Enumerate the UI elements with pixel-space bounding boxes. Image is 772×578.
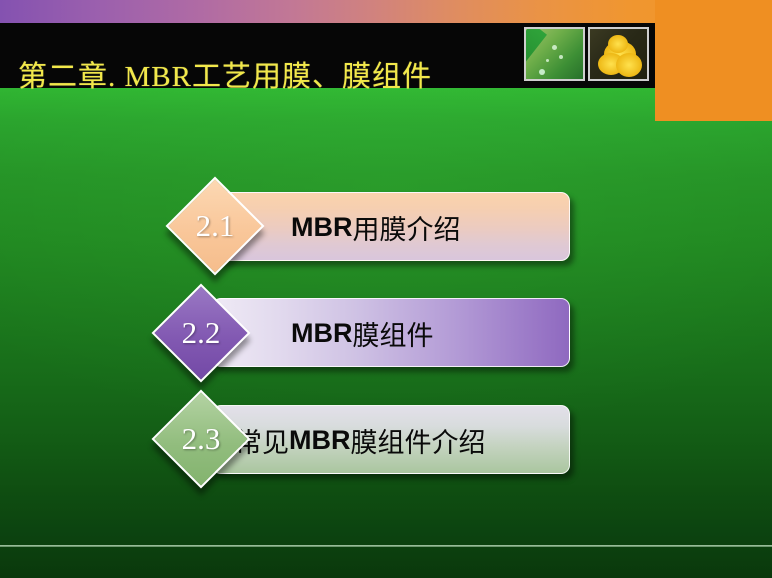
agenda-label-2-rest: 膜组件 [353,314,434,353]
slide: 第二章. MBR工艺用膜、膜组件 MBR用膜介绍 2.1 MBR膜组件 [0,0,772,578]
agenda-label-3-bold: MBR [289,425,351,456]
flower-photo-thumbnail [588,27,649,81]
agenda-label-1-bold: MBR [291,212,353,243]
hero-photo-frame [655,0,772,121]
water-dot-icon [539,69,545,75]
leaf-photo-thumbnail [524,27,585,81]
diamond-shape-3 [152,390,251,489]
leaf-image [526,29,583,79]
agenda-label-2: MBR膜组件 [291,299,434,368]
flower-petal [616,53,642,77]
agenda-diamond-2[interactable]: 2.2 [155,287,247,379]
flower-petal [608,35,628,53]
bottom-divider [0,545,772,547]
agenda-diamond-1[interactable]: 2.1 [169,180,261,272]
flower-image [590,29,647,79]
agenda-bar-2[interactable]: MBR膜组件 [212,298,570,367]
diamond-shape-2 [152,284,251,383]
water-dot-icon [546,59,549,62]
agenda-label-1-rest: 用膜介绍 [353,208,461,247]
agenda-label-3-rest: 膜组件介绍 [351,421,486,460]
water-dot-icon [552,45,557,50]
agenda-bar-1[interactable]: MBR用膜介绍 [212,192,570,261]
diamond-shape-1 [166,177,265,276]
page-title: 第二章. MBR工艺用膜、膜组件 [18,53,432,95]
agenda-diamond-3[interactable]: 2.3 [155,393,247,485]
agenda-label-1: MBR用膜介绍 [291,193,461,262]
agenda-label-3: 常见MBR膜组件介绍 [235,406,486,475]
agenda-bar-3[interactable]: 常见MBR膜组件介绍 [212,405,570,474]
agenda-label-2-bold: MBR [291,318,353,349]
water-dot-icon [559,55,563,59]
